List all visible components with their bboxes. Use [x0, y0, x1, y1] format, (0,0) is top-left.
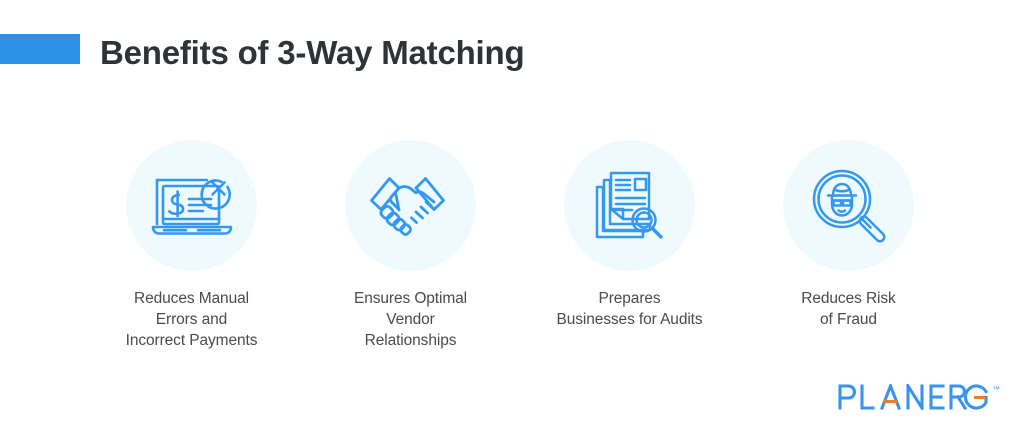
trademark-symbol: ™	[992, 386, 1000, 394]
benefits-list: Reduces Manual Errors and Incorrect Paym…	[87, 140, 953, 351]
planergy-wordmark	[838, 384, 990, 415]
benefit-label: Reduces Manual Errors and Incorrect Paym…	[126, 288, 258, 351]
benefit-item-reduces-risk-of-fraud: Reduces Risk of Fraud	[744, 140, 953, 330]
benefit-label: Ensures Optimal Vendor Relationships	[354, 288, 467, 351]
planergy-logo: ™	[838, 384, 1000, 415]
benefit-item-prepares-businesses-for-audits: Prepares Businesses for Audits	[525, 140, 734, 330]
benefit-label: Reduces Risk of Fraud	[801, 288, 895, 330]
documents-magnifier-icon	[564, 140, 695, 271]
benefit-item-ensures-optimal-vendor-relationships: Ensures Optimal Vendor Relationships	[306, 140, 515, 351]
handshake-icon	[345, 140, 476, 271]
laptop-dollar-error-icon	[126, 140, 257, 271]
magnifier-spy-icon	[783, 140, 914, 271]
page-title: Benefits of 3-Way Matching	[100, 31, 524, 75]
benefit-label: Prepares Businesses for Audits	[556, 288, 702, 330]
header-accent-bar	[0, 34, 80, 64]
page-header: Benefits of 3-Way Matching	[0, 31, 1024, 81]
benefit-item-reduces-manual-errors: Reduces Manual Errors and Incorrect Paym…	[87, 140, 296, 351]
